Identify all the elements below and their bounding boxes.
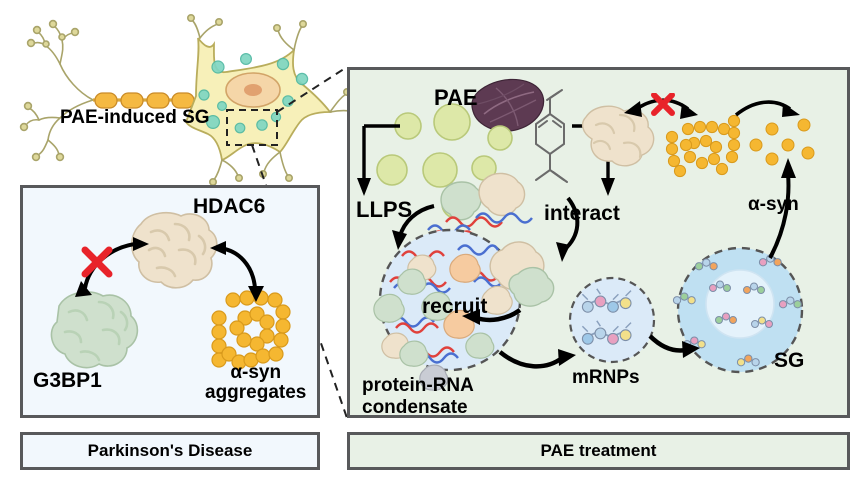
interact-label: interact — [544, 203, 620, 225]
inset-hdac6-protein — [583, 106, 654, 166]
mrnps-label: mRNPs — [572, 368, 640, 388]
llps-label: LLPS — [356, 198, 412, 221]
hdac6-label: HDAC6 — [193, 196, 265, 218]
condensate-line-2: condensate — [362, 397, 468, 418]
pae-caption-bar: PAE treatment — [347, 432, 850, 470]
inset-asyn-aggregates — [666, 115, 739, 176]
stress-granule-core — [706, 270, 774, 338]
parkinsons-disease-panel: HDAC6 G3BP1 α-syn aggregates — [20, 185, 320, 418]
parkinsons-caption-text: Parkinson's Disease — [88, 441, 253, 461]
condensate-line-1: protein-RNA — [362, 375, 474, 396]
blocked-interaction-x-icon — [85, 250, 109, 274]
sg-label: SG — [774, 350, 804, 372]
inset-blocked-x-icon — [654, 95, 672, 113]
inset-disaggregation-arrow — [736, 102, 800, 117]
parkinsons-caption-bar: Parkinson's Disease — [20, 432, 320, 470]
alpha-syn-aggregates-label: α-syn aggregates — [205, 363, 306, 403]
pae-treatment-panel: PAE LLPS interact recruit protein-RNA co… — [347, 67, 850, 418]
condensate-label: protein-RNA condensate — [362, 375, 474, 419]
g3bp1-label: G3BP1 — [33, 370, 102, 392]
pae-caption-text: PAE treatment — [541, 441, 657, 461]
perilla-leaf-icon — [472, 79, 544, 131]
mrnps-granule — [570, 278, 654, 362]
inset-asyn-label: α-syn — [748, 195, 799, 215]
asyn-line-2: aggregates — [205, 382, 306, 403]
free-protein-hdac6 — [479, 173, 525, 215]
figure-canvas: PAE-induced SG — [0, 0, 860, 501]
alpha-syn-aggregates — [212, 291, 290, 369]
inset-asyn-monomers — [750, 119, 814, 165]
g3bp1-protein — [51, 292, 137, 368]
hdac6-protein — [132, 213, 217, 288]
asyn-line-1: α-syn — [230, 362, 281, 383]
inset-graphics — [576, 93, 840, 179]
hdac6-asyn-arrow — [210, 241, 264, 302]
hdac6-g3bp1-arrow — [75, 237, 149, 297]
condensate-to-mrnps-arrow — [500, 349, 576, 366]
recruit-label: recruit — [422, 296, 487, 318]
pae-label: PAE — [434, 86, 478, 109]
